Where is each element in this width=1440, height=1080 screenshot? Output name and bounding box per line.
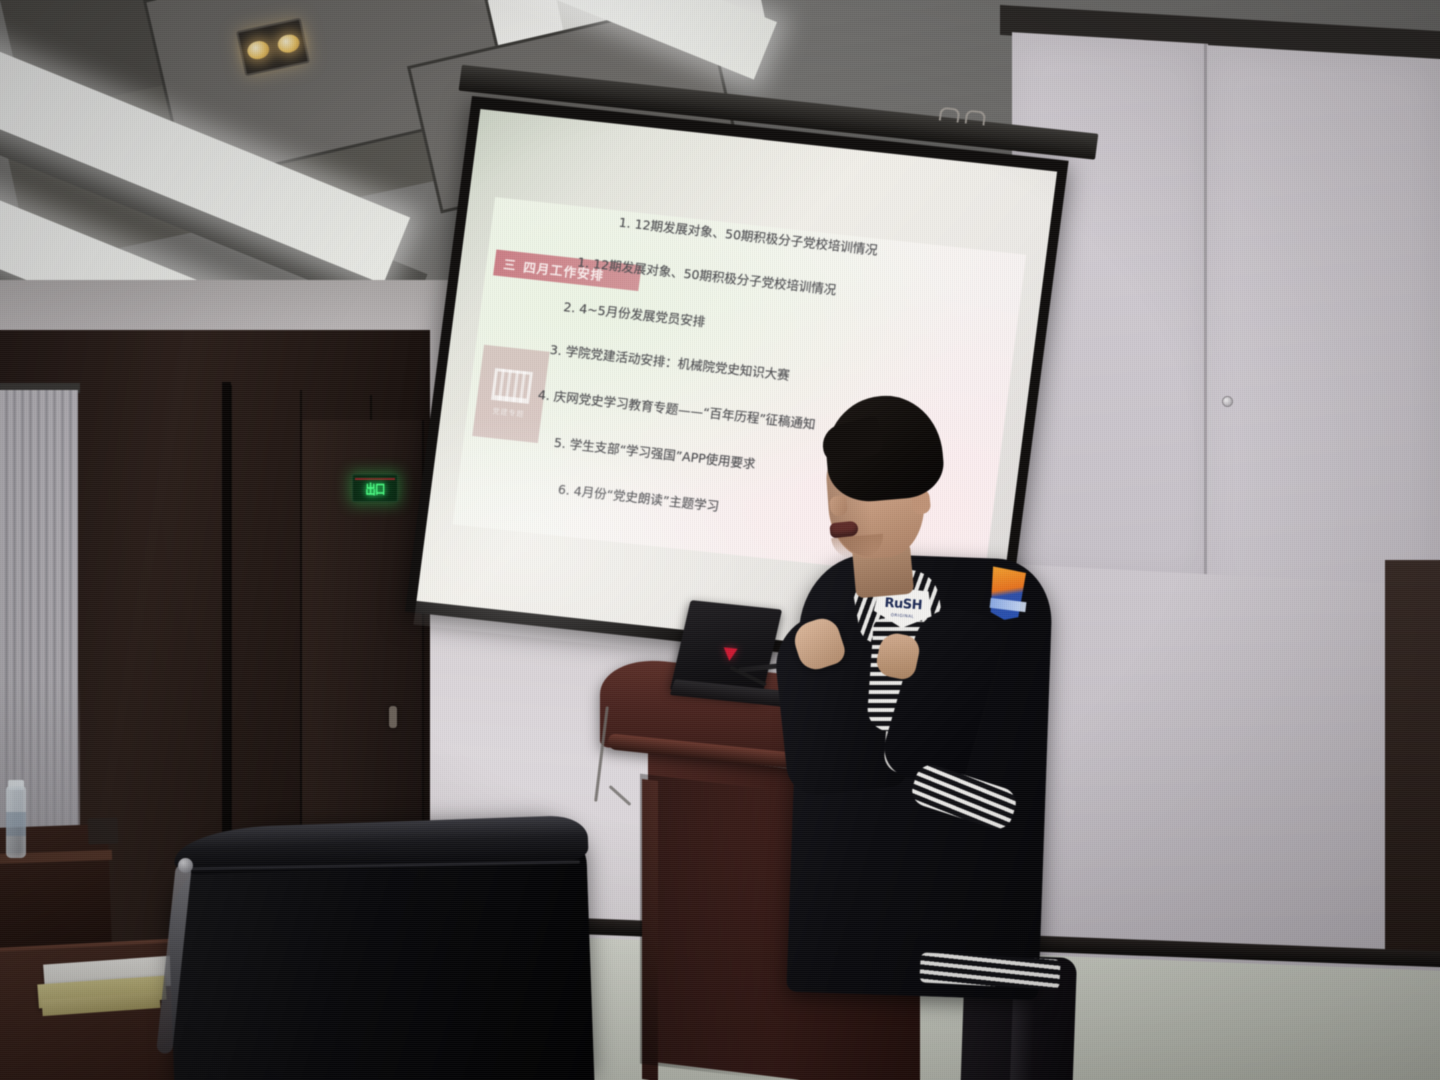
building-icon [491,368,533,404]
emergency-exit-sign: 出口 [352,474,398,502]
lamp-bulb-icon [245,39,270,61]
chest-patch-sublabel: ORIGINAL [891,612,915,619]
presentation-photo: 出口 三 四月工作安排 党建专题 [0,0,1440,1080]
executive-leather-chair[interactable] [140,806,610,1080]
chest-patch-label: RuSH [884,597,922,613]
slide-bullet: 3. 学院党建活动安排：机械院党史知识大赛 [549,344,790,382]
slide-bullet: 2. 4~5月份发展党员安排 [563,301,706,329]
screen-hook-icon [939,107,961,123]
wall-socket[interactable] [88,817,119,844]
panel-fastener [1222,396,1233,407]
laptop-logo-icon [722,647,737,661]
door-handle[interactable] [389,706,397,728]
lamp-bulb-icon [276,33,301,55]
slide-bullet-list: 1. 12期发展对象、50期积极分子党校培训情况 1. 12期发展对象、50期积… [568,211,1025,261]
exit-sign-label: 出口 [365,479,384,498]
slide-section-number: 三 [494,254,525,274]
wall-panel [1206,45,1440,619]
wall-corner-shadow [1385,560,1440,960]
chair-arm-knob [178,858,193,873]
bottle-label [6,812,26,836]
slide-bullet: 1. 12期发展对象、50期积极分子党校培训情况 [618,217,878,258]
wall-panel-seam [1204,44,1207,619]
screen-hook-icon [965,109,987,125]
presenter: RuSH ORIGINAL [770,396,1110,1080]
